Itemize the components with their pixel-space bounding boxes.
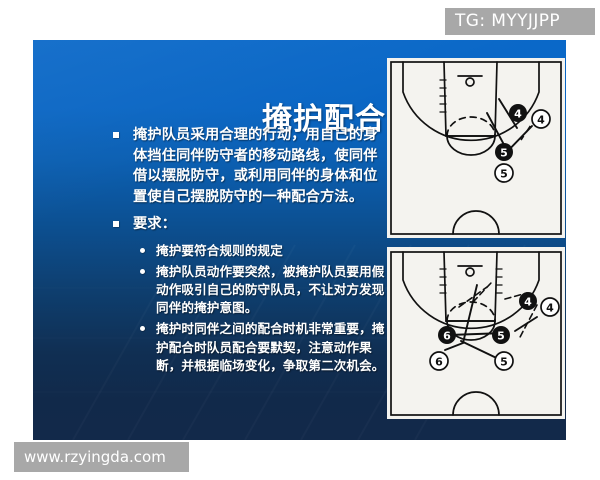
court-boundary bbox=[391, 62, 561, 234]
basketball-halfcourt-svg-bottom: 4 4 5 5 6 bbox=[387, 247, 565, 419]
svg-text:5: 5 bbox=[500, 168, 508, 181]
bullet-text: 要求： bbox=[133, 216, 176, 232]
hoop bbox=[466, 268, 474, 276]
telegram-channel-banner: TG: MYYJJPP bbox=[445, 8, 595, 35]
round-bullet-icon bbox=[140, 326, 145, 331]
hoop bbox=[466, 78, 474, 86]
square-bullet-icon bbox=[113, 221, 119, 227]
svg-text:6: 6 bbox=[435, 356, 443, 369]
bullet-text: 掩护队员动作要突然，被掩护队员要用假动作吸引自己的防守队员，不让对方发现同伴的掩… bbox=[156, 264, 385, 315]
player-defense-4: 4 bbox=[541, 298, 559, 316]
player-markers: 4 4 5 5 6 bbox=[430, 292, 559, 370]
requirements-sublist: 掩护要符合规则的规定 掩护队员动作要突然，被掩护队员要用假动作吸引自己的防守队员… bbox=[111, 242, 391, 375]
player-offense-5: 5 bbox=[495, 143, 513, 161]
svg-text:4: 4 bbox=[514, 108, 522, 121]
player-defense-5: 5 bbox=[495, 164, 513, 182]
round-bullet-icon bbox=[140, 269, 145, 274]
three-point-arc bbox=[403, 62, 539, 140]
player-offense-4: 4 bbox=[509, 104, 527, 122]
screen-play-diagram-bottom: 4 4 5 5 6 bbox=[387, 247, 565, 419]
site-watermark: www.rzyingda.com bbox=[14, 442, 189, 472]
three-point-arc bbox=[403, 252, 539, 328]
player-offense-4: 4 bbox=[519, 292, 537, 310]
player-offense-6: 6 bbox=[438, 326, 456, 344]
lane-hash-marks bbox=[440, 269, 502, 293]
svg-text:4: 4 bbox=[524, 296, 532, 309]
bullet-level2-rule-compliance: 掩护要符合规则的规定 bbox=[135, 242, 391, 260]
bullet-text: 掩护要符合规则的规定 bbox=[156, 243, 283, 258]
bullet-text: 掩护时同伴之间的配合时机非常重要，掩护配合时队员配合要默契，注意动作果断，并根据… bbox=[156, 321, 385, 372]
bullet-level1-requirements: 要求： bbox=[111, 214, 391, 235]
bullet-text: 掩护队员采用合理的行动，用自己的身体挡住同伴防守者的移动路线，使同伴借以摆脱防守… bbox=[133, 127, 378, 205]
round-bullet-icon bbox=[140, 248, 145, 253]
bullet-level1-definition: 掩护队员采用合理的行动，用自己的身体挡住同伴防守者的移动路线，使同伴借以摆脱防守… bbox=[111, 125, 391, 207]
presentation-slide: 掩护配合 掩护队员采用合理的行动，用自己的身体挡住同伴防守者的移动路线，使同伴借… bbox=[33, 40, 566, 440]
screen-play-diagram-top: 4 4 5 5 bbox=[387, 58, 565, 238]
player-defense-5: 5 bbox=[495, 352, 513, 370]
svg-text:4: 4 bbox=[546, 302, 554, 315]
square-bullet-icon bbox=[113, 132, 119, 138]
svg-text:6: 6 bbox=[443, 330, 451, 343]
free-throw-circle-dashed bbox=[447, 117, 495, 136]
slide-body: 掩护队员采用合理的行动，用自己的身体挡住同伴防守者的移动路线，使同伴借以摆脱防守… bbox=[111, 125, 391, 378]
player-offense-5: 5 bbox=[492, 326, 510, 344]
svg-text:5: 5 bbox=[500, 147, 508, 160]
bullet-level2-timing: 掩护时同伴之间的配合时机非常重要，掩护配合时队员配合要默契，注意动作果断，并根据… bbox=[135, 320, 391, 375]
far-restricted-arc bbox=[453, 392, 499, 415]
svg-text:4: 4 bbox=[537, 114, 545, 127]
svg-text:5: 5 bbox=[497, 330, 505, 343]
player-defense-6: 6 bbox=[430, 352, 448, 370]
svg-text:5: 5 bbox=[500, 356, 508, 369]
basketball-halfcourt-svg-top: 4 4 5 5 bbox=[387, 58, 565, 238]
far-restricted-arc bbox=[453, 211, 499, 234]
player-defense-4: 4 bbox=[532, 110, 550, 128]
bullet-level2-sudden-action: 掩护队员动作要突然，被掩护队员要用假动作吸引自己的防守队员，不让对方发现同伴的掩… bbox=[135, 263, 391, 318]
